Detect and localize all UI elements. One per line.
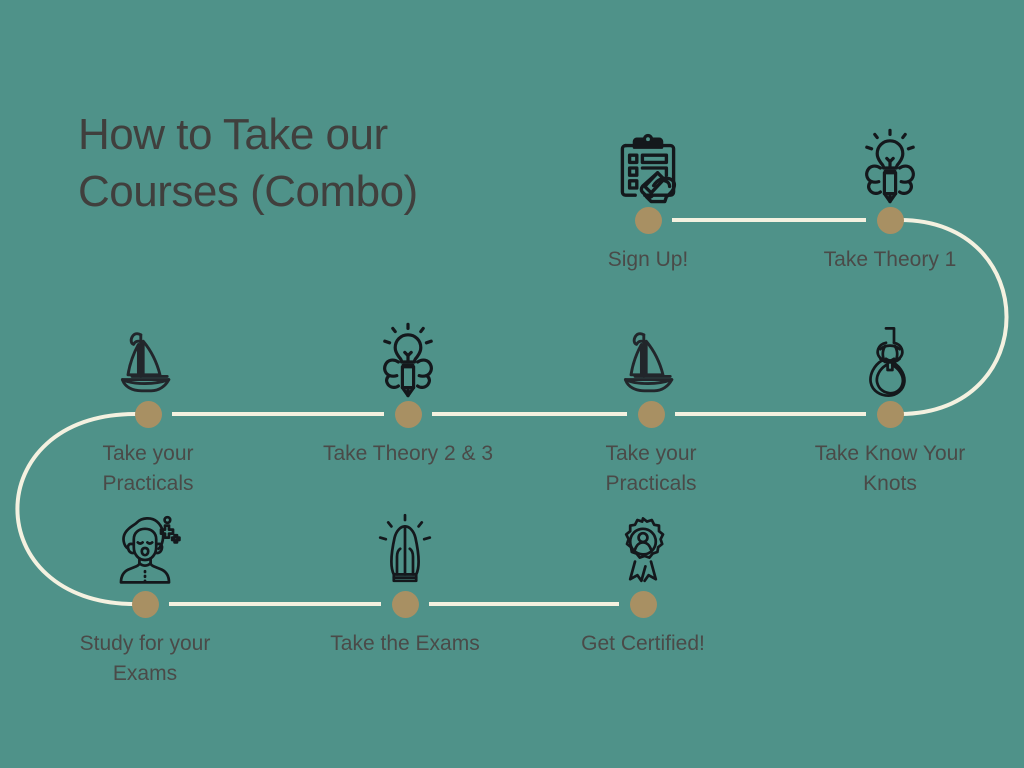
timeline-step-label: Take Theory 2 & 3 — [298, 439, 518, 469]
timeline-dot[interactable] — [635, 207, 662, 234]
rope-knot-icon — [850, 322, 930, 402]
timeline-step[interactable] — [305, 508, 505, 592]
timeline-dot[interactable] — [395, 401, 422, 428]
infographic-canvas: How to Take our Courses (Combo) Sign Up!… — [0, 0, 1024, 768]
timeline-dot[interactable] — [638, 401, 665, 428]
timeline-step[interactable] — [308, 318, 508, 402]
timeline-step[interactable] — [551, 318, 751, 402]
sailboat-icon — [108, 322, 188, 402]
timeline-step-label: Get Certified! — [533, 629, 753, 659]
praying-hands-icon — [365, 512, 445, 592]
timeline-dot[interactable] — [877, 401, 904, 428]
lightbulb-flex-pencil-icon — [368, 322, 448, 402]
timeline-step-label: Study for your Exams — [35, 629, 255, 689]
lightbulb-flex-pencil-icon — [850, 128, 930, 208]
page-title: How to Take our Courses (Combo) — [78, 107, 598, 220]
timeline-step[interactable] — [45, 508, 245, 592]
timeline-step[interactable] — [790, 124, 990, 208]
timeline-step[interactable] — [48, 318, 248, 402]
award-ribbon-icon — [603, 512, 683, 592]
timeline-dot[interactable] — [392, 591, 419, 618]
timeline-step-label: Take the Exams — [295, 629, 515, 659]
timeline-step-label: Sign Up! — [538, 245, 758, 275]
timeline-step[interactable] — [548, 124, 748, 208]
sailboat-icon — [611, 322, 691, 402]
timeline-dot[interactable] — [877, 207, 904, 234]
timeline-step-label: Take Know Your Knots — [780, 439, 1000, 499]
timeline-step-label: Take your Practicals — [541, 439, 761, 499]
clipboard-pen-icon — [608, 128, 688, 208]
timeline-dot[interactable] — [135, 401, 162, 428]
timeline-step[interactable] — [543, 508, 743, 592]
straight-connector-group — [169, 220, 866, 604]
timeline-step-label: Take your Practicals — [38, 439, 258, 499]
timeline-step-label: Take Theory 1 — [780, 245, 1000, 275]
timeline-dot[interactable] — [630, 591, 657, 618]
studying-person-icon — [105, 512, 185, 592]
timeline-step[interactable] — [790, 318, 990, 402]
timeline-dot[interactable] — [132, 591, 159, 618]
